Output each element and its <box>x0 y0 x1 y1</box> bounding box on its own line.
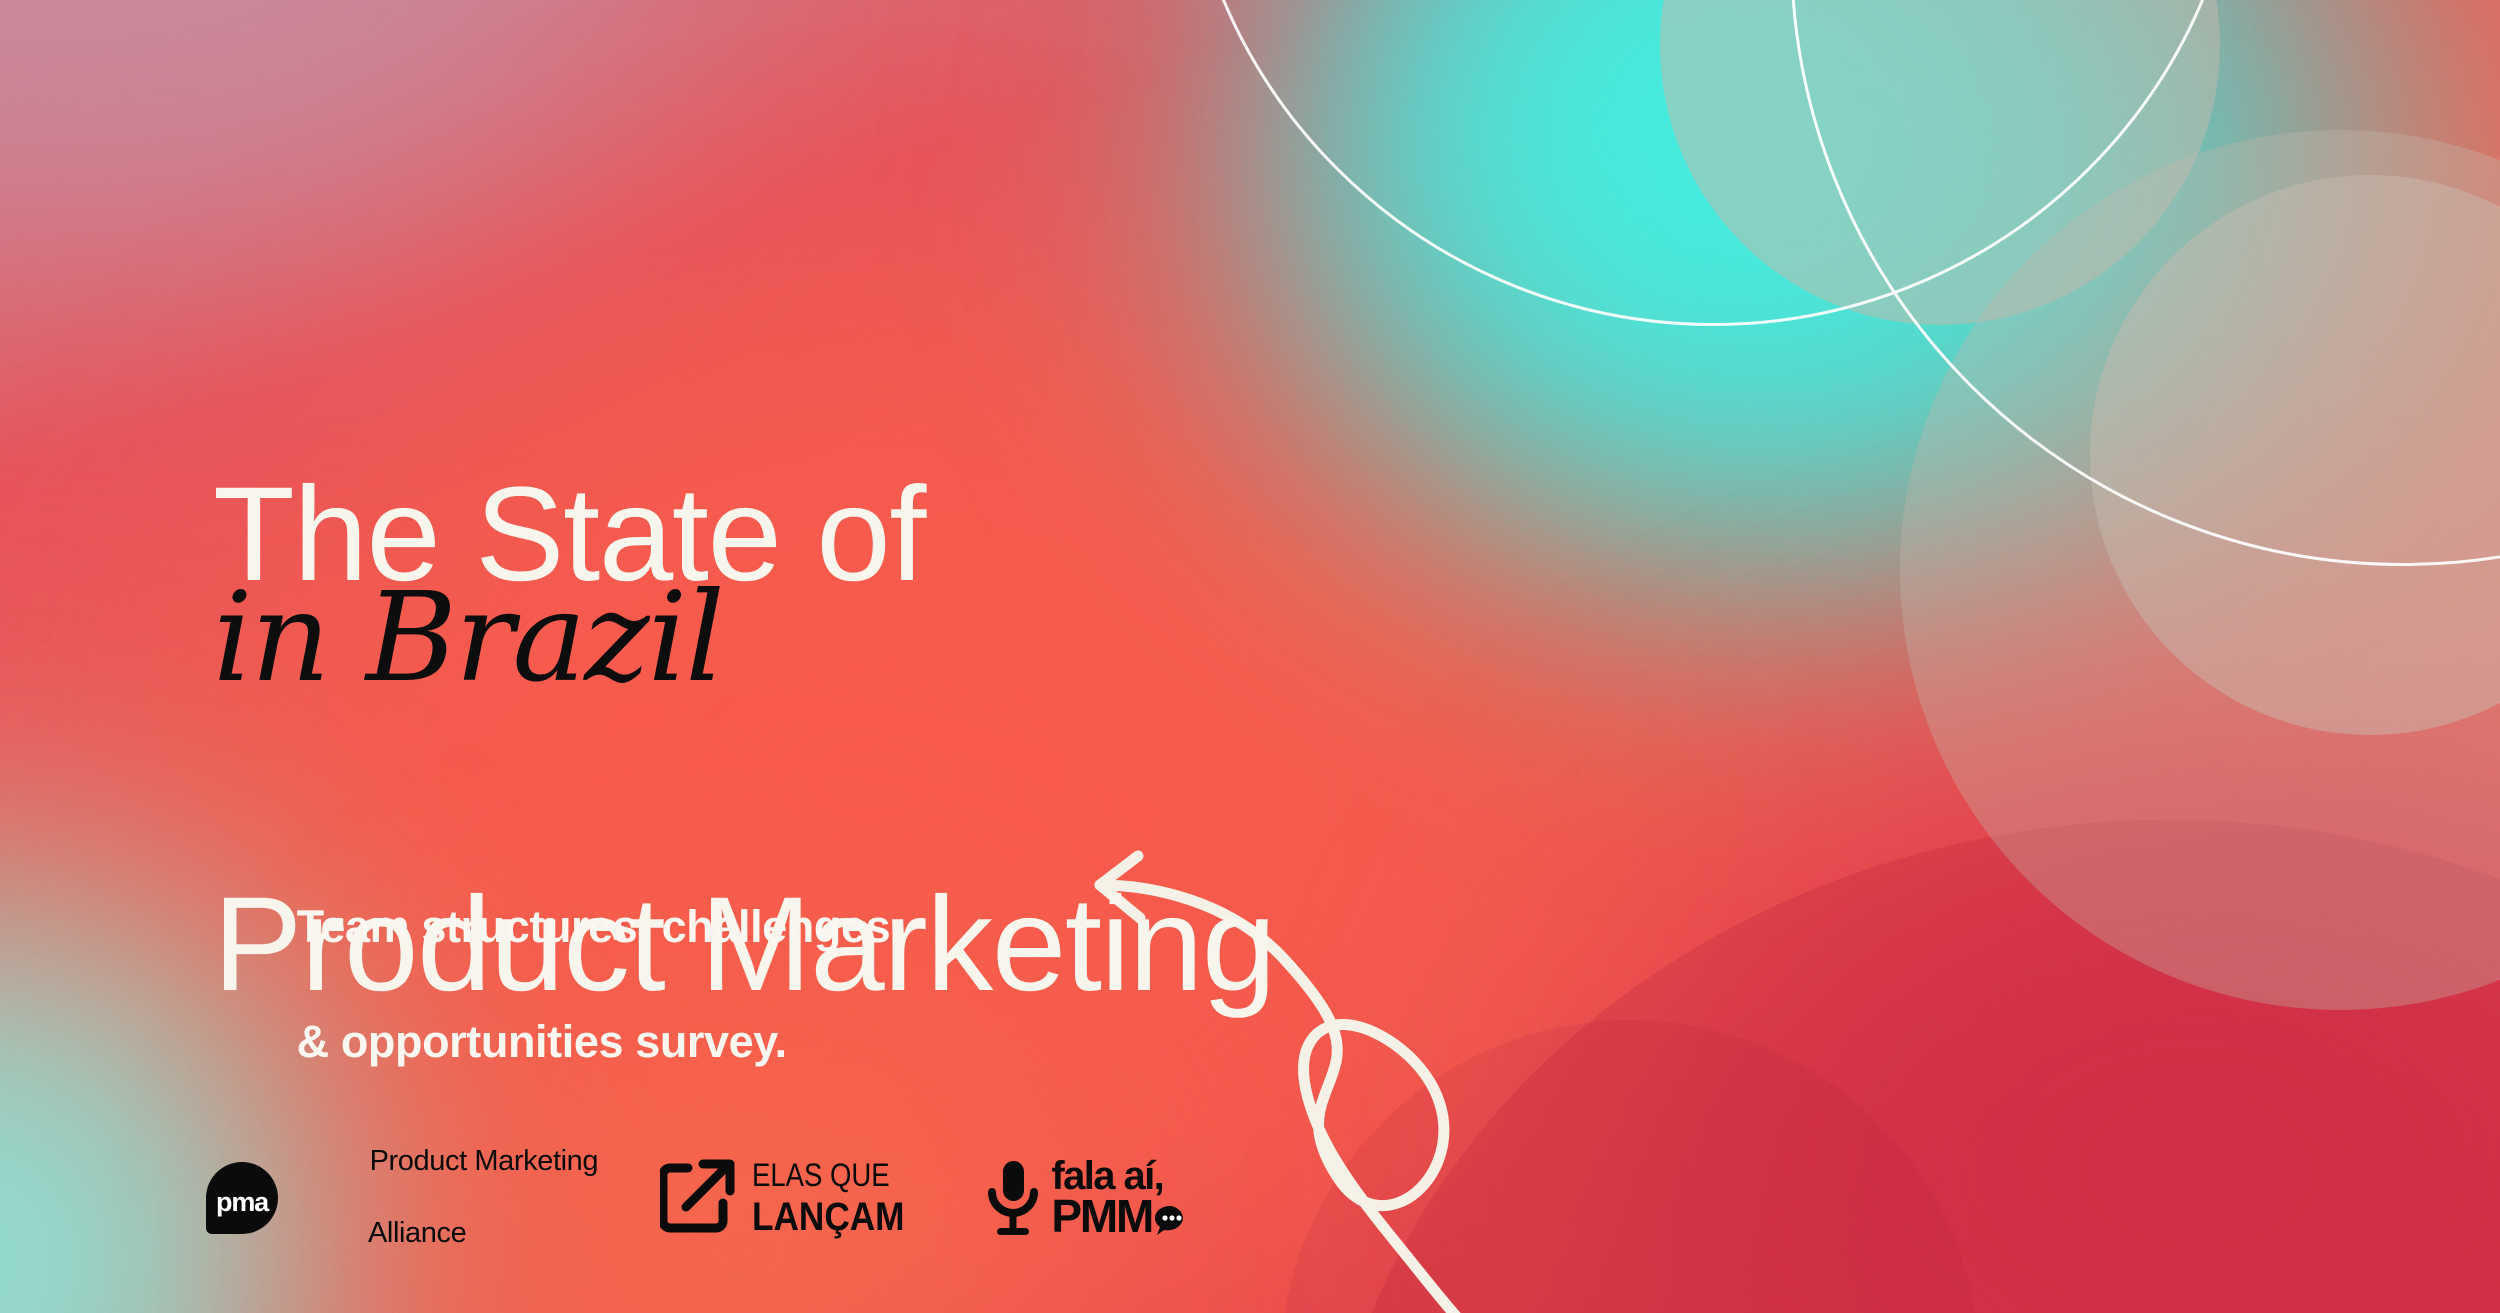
poster-content: The State of Product Marketing in Brazil… <box>0 0 2500 1313</box>
page-subtitle-line-2: & opportunities survey. <box>297 1016 787 1067</box>
speech-bubble-icon <box>1154 1205 1188 1235</box>
external-link-icon <box>660 1159 738 1237</box>
logo-fala-ai-pmm[interactable]: fala aí, PMM <box>987 1158 1188 1238</box>
fala-wordmark-pmm: PMM <box>1051 1195 1152 1237</box>
logo-row: pma Product Marketing Alliance ELAS QUE … <box>206 1108 1188 1288</box>
logo-product-marketing-alliance[interactable]: pma Product Marketing Alliance <box>206 1108 598 1288</box>
poster-canvas: The State of Product Marketing in Brazil… <box>0 0 2500 1313</box>
pma-wordmark: Product Marketing Alliance <box>293 1108 598 1288</box>
fala-wordmark: fala aí, PMM <box>1051 1158 1188 1237</box>
fala-wordmark-line-2: PMM <box>1051 1195 1188 1237</box>
logo-elas-que-lancam[interactable]: ELAS QUE LANÇAM <box>660 1159 925 1237</box>
microphone-icon <box>987 1158 1039 1238</box>
pma-wordmark-line-1: Product Marketing <box>370 1145 599 1177</box>
eql-wordmark: ELAS QUE LANÇAM <box>752 1159 925 1237</box>
pma-wordmark-line-2: Alliance <box>368 1217 466 1249</box>
pma-mark-icon: pma <box>206 1162 278 1234</box>
eql-wordmark-line-2: LANÇAM <box>752 1197 905 1237</box>
page-title-accent: in Brazil <box>213 576 723 700</box>
page-subtitle: Team structures, challenges & opportunit… <box>224 840 890 1128</box>
eql-wordmark-line-1: ELAS QUE <box>752 1159 901 1191</box>
page-subtitle-line-1: Team structures, challenges <box>297 901 891 952</box>
pma-mark-label: pma <box>216 1189 268 1216</box>
